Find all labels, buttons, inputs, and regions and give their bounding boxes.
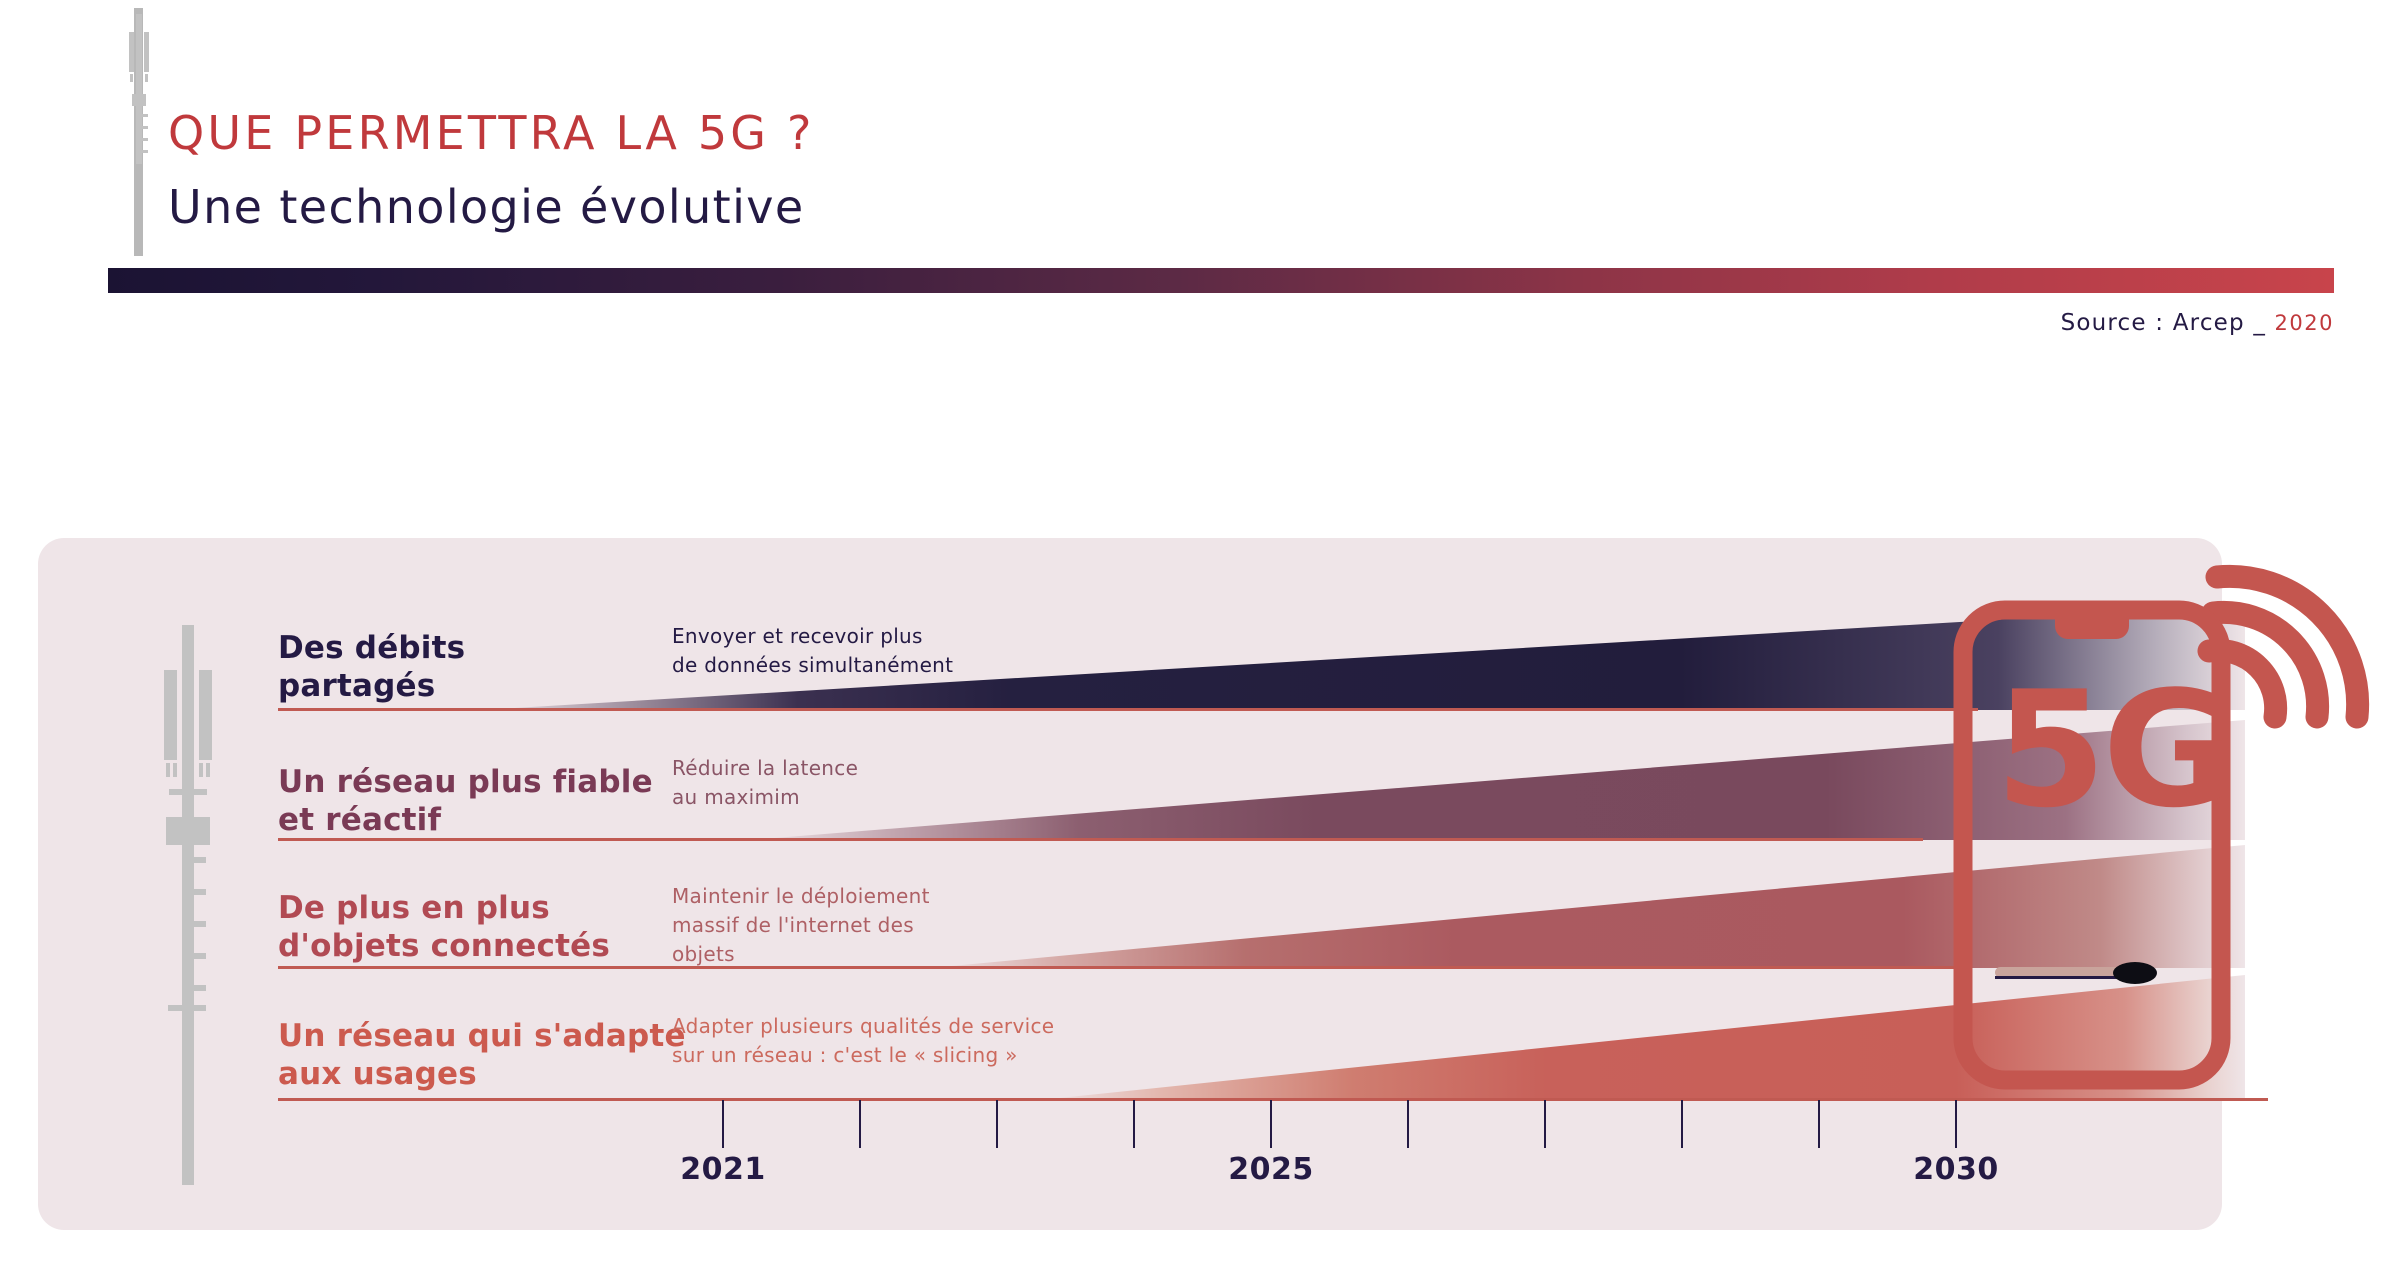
axis-tick bbox=[1270, 1100, 1272, 1148]
axis-label-2025: 2025 bbox=[1228, 1152, 1314, 1187]
axis-label-2030: 2030 bbox=[1913, 1152, 1999, 1187]
axis-tick bbox=[722, 1100, 724, 1148]
axis-tick bbox=[1955, 1100, 1957, 1148]
phone-notch bbox=[2055, 617, 2129, 639]
phone-progress-slider bbox=[1995, 962, 2157, 984]
row-title-objets-connectes: De plus en plus d'objets connectés bbox=[278, 890, 610, 966]
row-title-reseau-adapte: Un réseau qui s'adapte aux usages bbox=[278, 1018, 686, 1094]
row-title-debits-partages: Des débits partagés bbox=[278, 630, 465, 706]
axis-label-2021: 2021 bbox=[680, 1152, 766, 1187]
axis-tick bbox=[1133, 1100, 1135, 1148]
axis-tick bbox=[1818, 1100, 1820, 1148]
row-title-reseau-fiable: Un réseau plus fiable et réactif bbox=[278, 764, 653, 840]
row-baseline-1 bbox=[278, 708, 1978, 711]
phone-5g-text: 5G bbox=[1995, 670, 2230, 830]
axis-tick bbox=[859, 1100, 861, 1148]
row-desc-debits-partages: Envoyer et recevoir plus de données simu… bbox=[672, 622, 953, 680]
row-desc-objets-connectes: Maintenir le déploiement massif de l'int… bbox=[672, 882, 930, 969]
wifi-signal-icon bbox=[2209, 576, 2358, 717]
row-desc-reseau-adapte: Adapter plusieurs qualités de service su… bbox=[672, 1012, 1054, 1070]
row-baseline-3 bbox=[278, 966, 1968, 969]
row-desc-reseau-fiable: Réduire la latence au maximim bbox=[672, 754, 858, 812]
axis-tick bbox=[1544, 1100, 1546, 1148]
timeline-axis: 2021 2025 2030 bbox=[0, 1100, 2388, 1230]
row-baseline-2 bbox=[278, 838, 1923, 841]
axis-tick bbox=[996, 1100, 998, 1148]
axis-tick bbox=[1407, 1100, 1409, 1148]
axis-tick bbox=[1681, 1100, 1683, 1148]
